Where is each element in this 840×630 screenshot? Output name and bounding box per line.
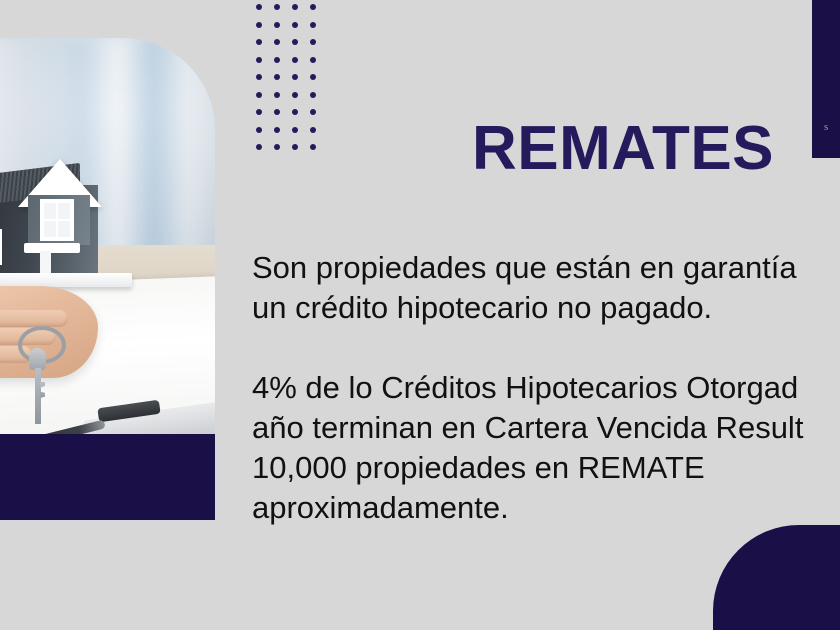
house-porch-roof — [24, 243, 80, 253]
grid-dot — [310, 109, 316, 115]
key-blade — [35, 368, 41, 424]
grid-dot — [292, 57, 298, 63]
grid-dot — [274, 57, 280, 63]
photo-hand-holding-house — [0, 38, 215, 436]
grid-dot — [256, 4, 262, 10]
grid-dot — [274, 74, 280, 80]
grid-dot — [256, 109, 262, 115]
grid-dot — [310, 4, 316, 10]
grid-dot — [310, 57, 316, 63]
grid-dot — [292, 92, 298, 98]
grid-dot — [310, 144, 316, 150]
grid-dot — [310, 74, 316, 80]
grid-dot — [274, 109, 280, 115]
grid-dot — [292, 39, 298, 45]
model-house-icon — [0, 133, 142, 283]
grid-dot — [274, 127, 280, 133]
house-side-window — [0, 229, 2, 265]
page-title: REMATES — [472, 118, 774, 180]
dot-grid-decoration — [256, 4, 328, 160]
top-right-mark: s — [824, 122, 828, 133]
navy-accent-block-left — [0, 434, 215, 520]
grid-dot — [292, 4, 298, 10]
grid-dot — [292, 144, 298, 150]
grid-dot — [256, 57, 262, 63]
house-base-plate — [0, 273, 132, 287]
hand-finger — [0, 310, 68, 327]
paragraph-statistic: 4% de lo Créditos Hipotecarios Otorgad a… — [252, 368, 840, 528]
slide-canvas: s REMATES Son propiedades que están en g… — [0, 0, 840, 630]
key-head — [29, 348, 46, 370]
grid-dot — [310, 39, 316, 45]
grid-dot — [274, 22, 280, 28]
grid-dot — [310, 22, 316, 28]
grid-dot — [292, 74, 298, 80]
house-gable-window — [40, 199, 74, 241]
grid-dot — [256, 127, 262, 133]
navy-accent-block-top-right: s — [812, 0, 840, 158]
grid-dot — [274, 39, 280, 45]
grid-dot — [256, 22, 262, 28]
grid-dot — [292, 22, 298, 28]
grid-dot — [292, 127, 298, 133]
navy-accent-block-bottom-right — [713, 525, 840, 630]
paragraph-definition: Son propiedades que están en garantía un… — [252, 248, 840, 328]
grid-dot — [274, 144, 280, 150]
grid-dot — [310, 92, 316, 98]
grid-dot — [256, 39, 262, 45]
grid-dot — [256, 144, 262, 150]
grid-dot — [292, 109, 298, 115]
body-copy: Son propiedades que están en garantía un… — [252, 248, 840, 528]
grid-dot — [256, 74, 262, 80]
grid-dot — [256, 92, 262, 98]
grid-dot — [274, 4, 280, 10]
grid-dot — [274, 92, 280, 98]
grid-dot — [310, 127, 316, 133]
